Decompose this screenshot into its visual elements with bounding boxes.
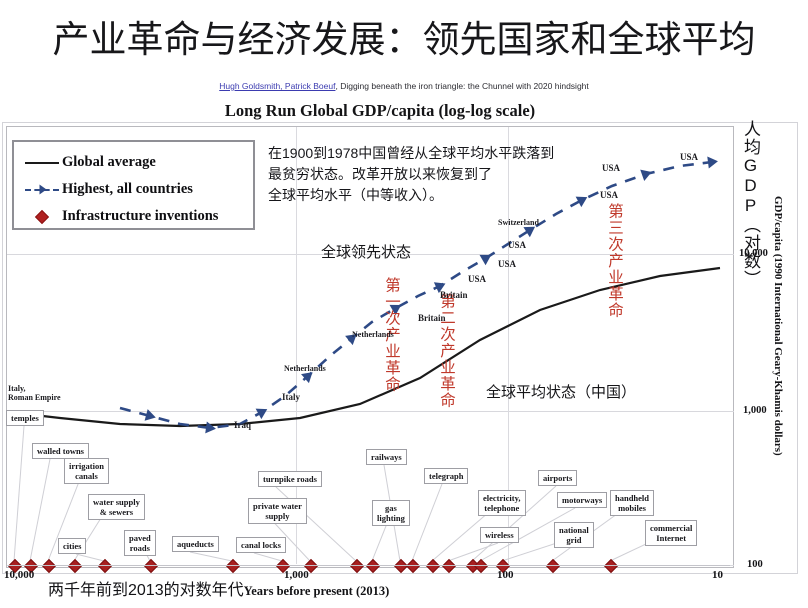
legend-item-global-average: Global average: [22, 149, 245, 176]
invention-callout: telegraph: [424, 468, 468, 484]
gridline-1000: [7, 411, 734, 412]
y-axis-title-cn: 人均GDP（对数）: [741, 120, 760, 288]
citation-authors-link[interactable]: Hugh Goldsmith, Patrick Boeuf: [219, 81, 335, 91]
invention-callout: canal locks: [236, 537, 286, 553]
y-tick-1000: 1,000: [743, 405, 767, 416]
dashed-line-triangle-icon: [22, 189, 62, 191]
annotation-second-industrial-revolution: 第二次产业革命: [438, 293, 455, 409]
country-label: Italy, Roman Empire: [8, 384, 61, 402]
invention-callout: paved roads: [124, 530, 156, 556]
x-tick-10: 10: [712, 569, 723, 581]
annotation-third-industrial-revolution: 第三次产业革命: [606, 203, 623, 319]
invention-callout: aqueducts: [172, 536, 219, 552]
invention-callout: irrigation canals: [64, 458, 109, 484]
country-label: USA: [508, 240, 526, 250]
chart-title: Long Run Global GDP/capita (log-log scal…: [0, 101, 760, 121]
invention-callout: temples: [6, 410, 44, 426]
slide-canvas: 产业革命与经济发展：领先国家和全球平均 Hugh Goldsmith, Patr…: [0, 0, 808, 608]
y-axis-title-en: GDP/capita (1990 International Geary-Kha…: [772, 196, 784, 456]
legend-label: Infrastructure inventions: [62, 208, 218, 225]
invention-callout: wireless: [480, 527, 519, 543]
country-label: Iraq: [234, 420, 251, 430]
country-label: USA: [498, 259, 516, 269]
legend-item-infrastructure: Infrastructure inventions: [22, 203, 245, 230]
x-tick-10000: 10,000: [4, 569, 34, 581]
country-label: USA: [600, 190, 618, 200]
invention-callout: private water supply: [248, 498, 307, 524]
invention-callout: cities: [58, 538, 86, 554]
invention-callout: water supply & sewers: [88, 494, 145, 520]
country-label: USA: [468, 274, 486, 284]
country-label: Britain: [440, 290, 468, 300]
page-title: 产业革命与经济发展：领先国家和全球平均: [8, 18, 800, 64]
invention-callout: walled towns: [32, 443, 89, 459]
invention-callout: railways: [366, 449, 407, 465]
invention-callout: handheld mobiles: [610, 490, 654, 516]
country-label: Netherlands: [284, 364, 326, 373]
annotation-leading-state: 全球领先状态: [321, 241, 411, 262]
legend-label: Highest, all countries: [62, 181, 193, 198]
legend-label: Global average: [62, 154, 156, 171]
country-label: Switzerland: [498, 218, 539, 227]
country-label: Italy: [282, 392, 300, 402]
invention-callout: commercial Internet: [645, 520, 697, 546]
invention-callout: gas lighting: [372, 500, 410, 526]
invention-callout: airports: [538, 470, 577, 486]
country-label: USA: [680, 152, 698, 162]
x-axis-line: [8, 565, 730, 566]
red-diamond-icon: [22, 212, 62, 222]
x-axis-title-en: Years before present (2013): [244, 584, 390, 598]
x-axis-title: 两千年前到2013的对数年代Years before present (2013…: [48, 576, 389, 600]
y-tick-100: 100: [747, 559, 763, 570]
country-label: Britain: [418, 313, 446, 323]
country-label: USA: [602, 163, 620, 173]
chart-legend: Global average Highest, all countries In…: [12, 140, 255, 230]
invention-callout: turnpike roads: [258, 471, 322, 487]
legend-item-highest-countries: Highest, all countries: [22, 176, 245, 203]
x-axis-title-cn: 两千年前到2013的对数年代: [48, 582, 244, 599]
invention-callout: motorways: [557, 492, 607, 508]
invention-callout: national grid: [554, 522, 594, 548]
country-label: Netherlands: [352, 330, 394, 339]
invention-callout: electricity, telephone: [478, 490, 526, 516]
solid-line-icon: [22, 162, 62, 164]
annotation-average-state: 全球平均状态（中国）: [486, 381, 636, 402]
citation-reference: , Digging beneath the iron triangle: the…: [335, 81, 588, 91]
x-tick-100: 100: [497, 569, 514, 581]
annotation-china-note: 在1900到1978中国曾经从全球平均水平跌落到 最贫穷状态。改革开放以来恢复到…: [268, 143, 568, 206]
citation: Hugh Goldsmith, Patrick Boeuf, Digging b…: [0, 80, 808, 92]
